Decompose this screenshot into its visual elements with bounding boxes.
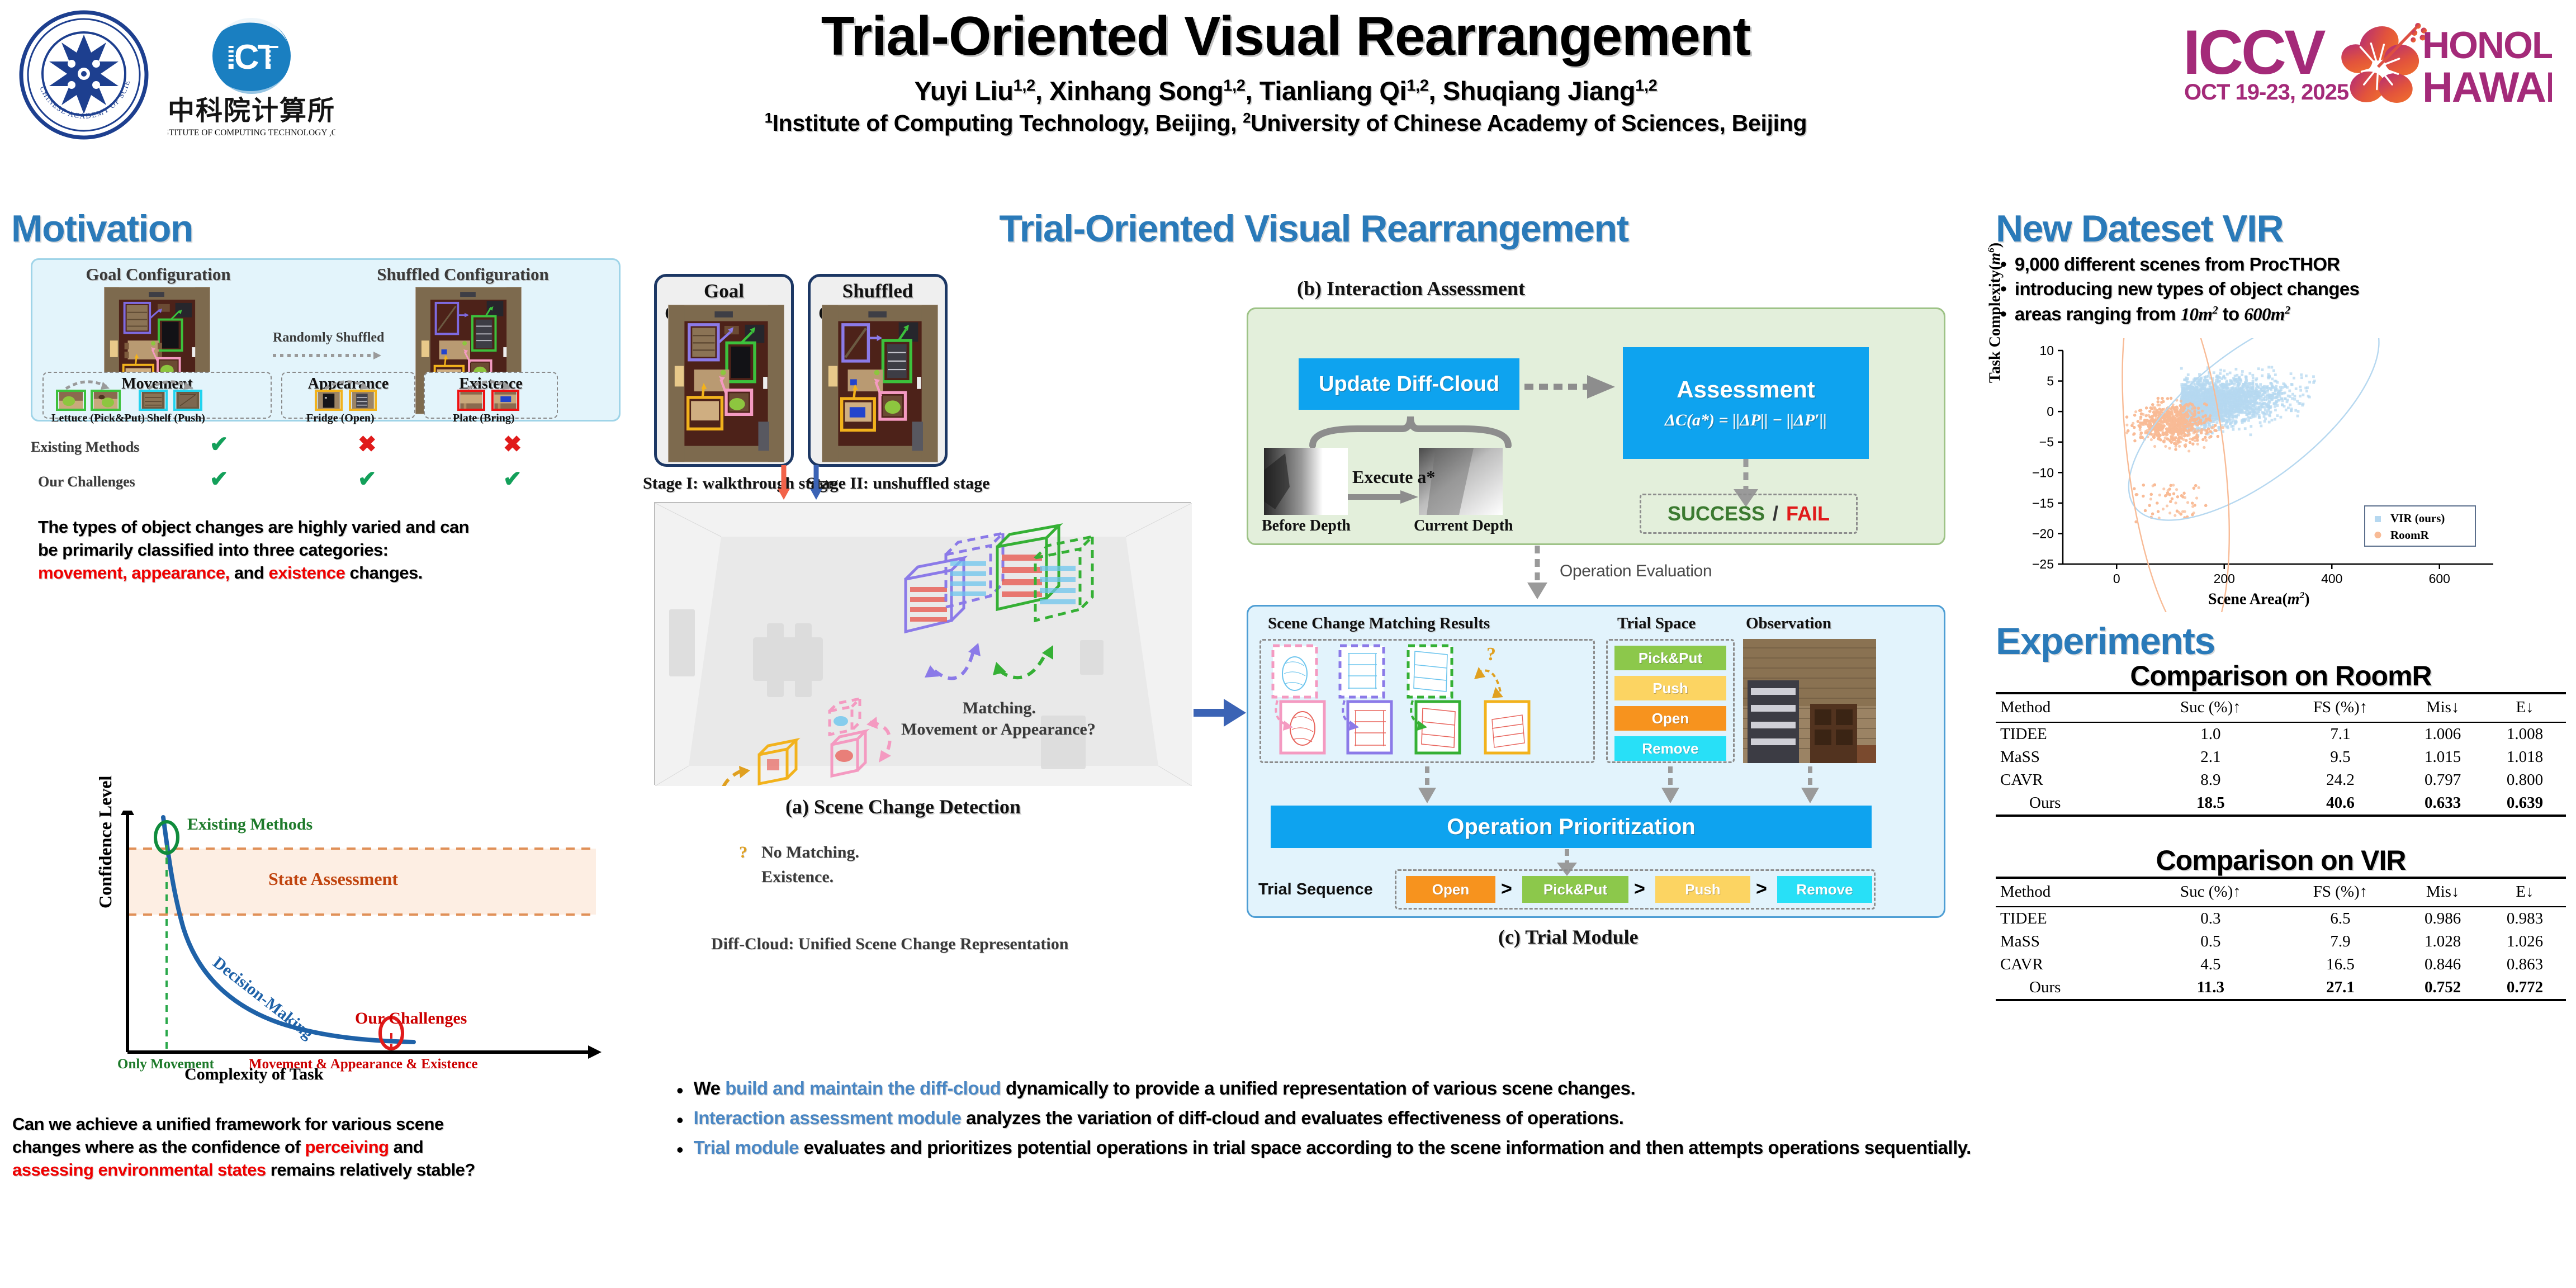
paragraph-highlight: existence <box>269 563 345 583</box>
scatter-point <box>2236 374 2238 377</box>
scatter-point <box>2225 399 2228 401</box>
results-column: New Dateset VIR • 9,000 different scenes… <box>1990 207 2576 1288</box>
scatter-point <box>2264 418 2267 420</box>
scatter-point <box>2261 405 2264 408</box>
scatter-point <box>2198 381 2200 384</box>
scatter-point <box>2267 407 2270 410</box>
scatter-point <box>2186 501 2189 504</box>
scatter-point <box>2238 428 2241 430</box>
ict-logo-subtext: INSTITUTE OF COMPUTING TECHNOLOGY ,CAS <box>168 128 335 138</box>
scatter-point <box>2252 389 2255 391</box>
scatter-point <box>2258 409 2261 411</box>
scatter-point <box>2228 410 2231 413</box>
scatter-point <box>2290 372 2293 375</box>
scatter-point <box>2190 392 2193 395</box>
check-icon: ✔ <box>503 468 522 490</box>
scatter-point <box>2239 379 2242 382</box>
scatter-point <box>2235 414 2238 417</box>
motivation-paragraph: The types of object changes are highly v… <box>38 515 631 585</box>
scatter-point <box>2289 404 2291 406</box>
motivation-question: Can we achieve a unified framework for v… <box>12 1112 638 1182</box>
title-block: Trial-Oriented Visual Rearrangement Yuyi… <box>615 4 1957 136</box>
annotation-state-assessment: State Assessment <box>268 869 398 889</box>
scatter-point <box>2172 484 2175 486</box>
scatter-point <box>2268 399 2271 402</box>
scatter-point <box>2194 439 2196 442</box>
chart-ylabel: Confidence Level <box>95 776 116 908</box>
scatter-point <box>2271 377 2274 380</box>
scatter-point <box>2144 414 2147 417</box>
scatter-point <box>2266 390 2269 393</box>
diffcloud-footer: Diff-Cloud: Unified Scene Change Represe… <box>711 935 1068 954</box>
scatter-point <box>2183 510 2186 513</box>
scatter-point <box>2192 396 2195 399</box>
dataset-bullet-text: 9,000 different scenes from ProcTHOR <box>2015 253 2340 276</box>
scatter-point <box>2228 400 2231 403</box>
scatter-point <box>2199 385 2202 387</box>
iccv-state: HAWAII <box>2422 64 2552 111</box>
diffcloud-nomatch-line2: Existence. <box>761 868 834 887</box>
bullet-text: We build and maintain the diff-cloud dyn… <box>694 1076 1636 1101</box>
trial-space-item: Open <box>1614 706 1726 731</box>
scatter-point <box>2203 446 2205 449</box>
scatter-point <box>2222 383 2225 386</box>
shuffled-config-label: Shuffled Configuration <box>351 264 575 285</box>
scatter-point <box>2264 409 2267 411</box>
scatter-point <box>2254 392 2257 395</box>
operation-prioritization-box: Operation Prioritization <box>1271 806 1872 848</box>
scatter-point <box>2264 420 2266 423</box>
arrow-curve-icon <box>323 378 373 391</box>
scatter-point <box>2286 386 2289 389</box>
scatter-point <box>2222 388 2225 391</box>
scatter-point <box>2250 433 2252 436</box>
paragraph-highlight: perceiving <box>305 1137 389 1157</box>
scatter-point <box>2225 381 2228 384</box>
caption-a: (a) Scene Change Detection <box>785 795 1021 818</box>
scatter-point <box>2185 377 2187 380</box>
change-caption: Shelf (Push) <box>147 412 205 425</box>
bullet-dot-icon: • <box>676 1140 684 1160</box>
scatter-point <box>2190 389 2193 392</box>
bullet-dot-icon: • <box>676 1110 684 1130</box>
scatter-point <box>2295 387 2298 390</box>
list-item: • introducing new types of object change… <box>1995 277 2576 300</box>
scatter-point <box>2308 381 2311 383</box>
scatter-point <box>2214 418 2217 421</box>
paragraph-highlight: assessing environmental states <box>12 1160 266 1180</box>
page-title: Trial-Oriented Visual Rearrangement <box>615 4 1957 68</box>
result-success-label: SUCCESS <box>1668 502 1765 525</box>
scatter-point <box>2185 396 2188 399</box>
scatter-point <box>2208 405 2211 408</box>
scatter-point <box>2263 415 2266 418</box>
panel-b-title: (b) Interaction Assessment <box>1297 277 1525 300</box>
scatter-point <box>2293 398 2296 401</box>
scatter-point <box>2237 389 2240 391</box>
paragraph-line: remains relatively stable? <box>266 1160 475 1180</box>
scatter-point <box>2274 405 2276 408</box>
scatter-point <box>2215 375 2218 378</box>
thumb-lettuce-after <box>91 390 121 411</box>
scatter-point <box>2297 410 2300 413</box>
scatter-point <box>2241 373 2243 376</box>
goal-configuration-card: Goal Configuration <box>654 274 794 467</box>
scatter-point <box>2299 395 2302 397</box>
scatter-point <box>2187 373 2190 376</box>
scatter-point <box>2248 382 2251 385</box>
scatter-point <box>2239 404 2242 407</box>
scatter-point <box>2274 418 2276 421</box>
scatter-point <box>2243 391 2246 394</box>
execute-arrow-icon <box>1348 489 1420 505</box>
observation-label: Observation <box>1746 614 1831 633</box>
before-depth-label: Before Depth <box>1262 517 1351 535</box>
area-max: 600m <box>2244 305 2285 325</box>
list-item: • Trial module evaluates and prioritizes… <box>676 1135 1985 1161</box>
scatter-point <box>2266 386 2269 389</box>
dataset-bullet-list: • 9,000 different scenes from ProcTHOR •… <box>1995 253 2576 328</box>
scatter-point <box>2260 425 2262 428</box>
cas-logo: CHINESE ACADEMY OF SCIENCES <box>17 8 151 142</box>
scatter-point <box>2158 404 2161 406</box>
scatter-point <box>2264 406 2266 409</box>
bullet-post: dynamically to provide a unified represe… <box>1001 1078 1635 1098</box>
scatter-point <box>2153 445 2156 448</box>
scatter-point <box>2222 417 2224 420</box>
paragraph-line: The types of object changes are highly v… <box>38 517 469 537</box>
sequence-separator: > <box>1756 878 1767 900</box>
scatter-point <box>2204 400 2206 402</box>
trial-space-label: Trial Space <box>1617 614 1696 633</box>
matching-results-thumbnails: ? <box>1264 641 1591 761</box>
bullet-highlight: Trial module <box>694 1137 799 1158</box>
operation-prioritization-label: Operation Prioritization <box>1447 815 1695 840</box>
scatter-point <box>2168 447 2171 449</box>
scatter-point <box>2219 407 2222 410</box>
prioritization-input-arrows <box>1259 766 1880 808</box>
scatter-point <box>2195 496 2198 499</box>
list-item: • areas ranging from 10m2 to 600m2 <box>1995 302 2576 326</box>
scatter-point <box>2200 377 2203 380</box>
scatter-point <box>2267 366 2270 368</box>
affiliation-list: 1Institute of Computing Technology, Beij… <box>615 110 1957 136</box>
scatter-point <box>2313 380 2316 382</box>
scatter-point <box>2276 381 2279 384</box>
scatter-point <box>2225 385 2228 387</box>
trial-space-item: Pick&Put <box>1614 646 1726 670</box>
iccv-city: HONOLULU <box>2422 24 2552 67</box>
annotation-existing-methods: Existing Methods <box>187 815 312 834</box>
scatter-point <box>2261 368 2264 371</box>
cross-icon: ✖ <box>503 433 522 456</box>
paragraph-highlight: movement, appearance, <box>38 563 230 583</box>
scatter-point <box>2300 376 2303 379</box>
scatter-point <box>2261 375 2264 377</box>
scatter-point <box>2202 406 2205 409</box>
arrow-curve-icon <box>466 378 516 391</box>
paragraph-line: be primarily classified into three categ… <box>38 540 389 560</box>
scatter-point <box>2199 398 2201 401</box>
method-bullet-list: • We build and maintain the diff-cloud d… <box>676 1076 1985 1165</box>
check-icon: ✔ <box>210 433 229 456</box>
scatter-point <box>2204 411 2207 414</box>
scatter-point <box>2302 394 2305 396</box>
scatter-point <box>2264 392 2266 395</box>
trial-sequence-item: Open <box>1406 876 1495 903</box>
scatter-point <box>2219 369 2222 372</box>
result-fail-label: FAIL <box>1786 502 1830 525</box>
scatter-point <box>2252 377 2255 380</box>
scene-change-matching-label: Scene Change Matching Results <box>1268 614 1490 633</box>
scatter-point <box>2236 406 2238 409</box>
scatter-point <box>2189 398 2191 401</box>
scatter-point <box>2236 395 2239 397</box>
scatter-point <box>2200 402 2203 405</box>
observation-image <box>1743 639 1876 763</box>
scatter-point <box>2221 400 2224 402</box>
scatter-point <box>2244 394 2247 396</box>
method-heading-text: Trial-Oriented Visual Rearrangement <box>999 207 1628 250</box>
bullet-highlight: build and maintain the diff-cloud <box>725 1078 1001 1098</box>
trial-space-item: Remove <box>1614 736 1726 761</box>
scatter-point <box>2259 422 2262 424</box>
scatter-point <box>2185 392 2188 395</box>
scatter-point <box>2279 386 2282 389</box>
scatter-point <box>2168 512 2171 514</box>
scatter-point <box>2289 395 2291 398</box>
scatter-point <box>2224 406 2227 409</box>
scatter-point <box>2216 421 2219 424</box>
bullet-text: Trial module evaluates and prioritizes p… <box>694 1135 1971 1161</box>
scatter-point <box>2203 387 2206 390</box>
scatter-point <box>2180 367 2183 370</box>
scatter-point <box>2296 415 2299 418</box>
scatter-point <box>2312 375 2315 378</box>
scatter-point <box>2251 391 2253 394</box>
scatter-point <box>2232 394 2235 396</box>
assessment-formula: ΔC(a*) = ||ΔP|| − ||ΔP′|| <box>1665 411 1827 430</box>
dataset-bullet-text: introducing new types of object changes <box>2015 277 2360 300</box>
method-column: Trial-Oriented Visual Rearrangement Goal… <box>643 207 1985 1288</box>
scatter-point <box>2300 373 2303 376</box>
assessment-box: Assessment ΔC(a*) = ||ΔP|| − ||ΔP′|| <box>1623 347 1869 459</box>
iccv-dates: OCT 19-23, 2025 <box>2184 80 2349 105</box>
scatter-point <box>2178 445 2181 448</box>
scatter-point <box>2231 397 2233 400</box>
thumb-fridge-closed <box>315 390 343 411</box>
scatter-point <box>2235 368 2238 371</box>
scatter-point <box>2223 370 2225 372</box>
scatter-point <box>2235 378 2238 381</box>
scatter-point <box>2274 409 2277 411</box>
scatter-point <box>2202 393 2205 396</box>
scatter-point <box>2182 394 2185 397</box>
scatter-point <box>2231 388 2234 391</box>
scatter-point <box>2222 376 2225 378</box>
paragraph-line: Can we achieve a unified framework for v… <box>12 1114 444 1134</box>
section-heading-method: Trial-Oriented Visual Rearrangement <box>643 207 1985 250</box>
area-max-exp: 2 <box>2285 304 2290 316</box>
shuffled-scene-image <box>822 305 938 462</box>
scatter-point <box>2125 424 2128 427</box>
scatter-point <box>2231 405 2234 408</box>
scatter-point <box>2241 395 2243 398</box>
scatter-point <box>2195 388 2198 391</box>
scatter-point <box>2164 445 2167 448</box>
arrow-curve-icon <box>64 378 114 391</box>
scatter-point <box>2225 419 2228 422</box>
shuffled-configuration-card: Shuffled Configuration <box>808 274 948 467</box>
scatter-point <box>2227 393 2229 396</box>
area-mid: to <box>2218 304 2244 324</box>
scatter-point <box>2218 402 2221 405</box>
scatter-point <box>2274 373 2277 376</box>
motivation-panel: Goal Configuration Shuffled Configuratio… <box>31 258 621 422</box>
scatter-point <box>2262 412 2265 415</box>
scatter-point <box>2271 419 2274 422</box>
scatter-point <box>2237 383 2240 386</box>
scatter-point <box>2231 380 2233 383</box>
scatter-point <box>2173 514 2176 517</box>
diffcloud-matching-line2: Movement or Appearance? <box>901 720 1096 739</box>
change-caption: Lettuce (Pick&Put) <box>51 412 145 425</box>
scatter-point <box>2175 488 2178 491</box>
scatter-point <box>2255 383 2258 386</box>
scatter-point <box>2256 401 2258 404</box>
scatter-point <box>2276 414 2279 417</box>
scatter-point <box>2241 370 2244 373</box>
scatter-point <box>2198 391 2200 394</box>
scatter-point <box>2204 376 2206 379</box>
thumb-shelf-after <box>173 390 202 411</box>
scatter-point <box>2237 410 2240 413</box>
goal-config-label: Goal Configuration <box>63 264 253 285</box>
scatter-point <box>2240 391 2243 394</box>
paragraph-line: changes where as the confidence of <box>12 1137 305 1157</box>
paragraph-line: changes. <box>345 563 423 583</box>
scatter-point <box>2250 403 2252 406</box>
scatter-point <box>2272 370 2275 372</box>
scatter-point <box>2231 402 2233 405</box>
execute-action-label: Execute a* <box>1352 467 1435 487</box>
dataset-bullet-text: areas ranging from 10m2 to 600m2 <box>2015 302 2290 326</box>
scatter-point <box>2298 402 2300 405</box>
scatter-point <box>2250 400 2253 402</box>
diffcloud-nomatch-line1: No Matching. <box>761 843 859 862</box>
scatter-point <box>2219 372 2222 375</box>
thumb-fridge-open <box>349 390 377 411</box>
diffcloud-question-icon: ? <box>739 843 747 862</box>
scatter-point <box>2213 371 2215 374</box>
before-depth-image <box>1264 448 1348 515</box>
scatter-point <box>2257 367 2260 370</box>
operation-evaluation-label: Operation Evaluation <box>1560 562 1712 581</box>
scatter-point <box>2158 494 2161 496</box>
scatter-point <box>2245 382 2248 385</box>
bullet-highlight: Interaction assessment module <box>694 1107 962 1128</box>
randomly-shuffled-label: Randomly Shuffled <box>273 330 384 345</box>
scatter-point <box>2251 374 2254 377</box>
confidence-complexity-chart: Existing Methods State Assessment Decisi… <box>101 811 626 1090</box>
scatter-point <box>2264 395 2267 398</box>
scatter-point <box>2255 377 2258 380</box>
list-item: • We build and maintain the diff-cloud d… <box>676 1076 1985 1101</box>
scatter-point <box>2269 411 2271 414</box>
assessment-result-box: SUCCESS / FAIL <box>1640 494 1858 534</box>
section-heading-motivation: Motivation <box>11 207 193 250</box>
scatter-point <box>2222 426 2224 429</box>
scatter-point <box>2149 498 2152 500</box>
scatter-point <box>2274 380 2276 382</box>
scatter-point <box>2247 419 2250 422</box>
scatter-point <box>2231 425 2233 428</box>
scatter-point <box>2257 385 2260 388</box>
scatter-point <box>2217 380 2220 382</box>
author-list: Yuyi Liu1,2, Xinhang Song1,2, Tianliang … <box>615 75 1957 106</box>
scatter-point <box>2187 449 2190 452</box>
scatter-point <box>2231 421 2233 424</box>
confidence-chart-svg <box>101 811 626 1090</box>
thumb-plate-present <box>491 390 519 411</box>
scatter-point <box>2299 389 2302 392</box>
scatter-point <box>2274 396 2277 399</box>
area-min: 10m <box>2181 305 2213 325</box>
scatter-point <box>2234 391 2237 394</box>
scatter-point <box>2213 402 2216 405</box>
matrix-row-label: Our Challenges <box>38 473 135 490</box>
scatter-point <box>2280 392 2283 395</box>
scatter-point <box>2232 428 2234 431</box>
scatter-point <box>2228 420 2231 423</box>
scatter-point <box>2227 427 2229 429</box>
scatter-point <box>2220 384 2223 387</box>
shuffle-arrow-icon <box>273 351 385 361</box>
change-caption: Plate (Bring) <box>453 412 515 425</box>
bullet-post: evaluates and prioritizes potential oper… <box>799 1137 1971 1158</box>
scatter-point <box>2251 386 2254 389</box>
sequence-separator: > <box>1634 878 1645 900</box>
iccv-conference-logo: ICCV OCT 19-23, 2025 <box>2183 11 2552 123</box>
scatter-point <box>2234 403 2237 406</box>
thumb-shelf-before <box>139 390 168 411</box>
scatter-point <box>2259 383 2262 386</box>
scatter-point <box>2209 389 2212 392</box>
thumb-plate-absent <box>457 390 485 411</box>
arrow-to-assessment-icon <box>1522 372 1620 402</box>
matrix-row-label: Existing Methods <box>31 439 139 456</box>
scatter-point <box>2294 395 2296 397</box>
paragraph-line: and <box>230 563 269 583</box>
scatter-point <box>2267 404 2270 407</box>
scatter-point <box>2196 443 2199 446</box>
scatter-point <box>2162 508 2165 510</box>
scatter-point <box>2197 486 2200 489</box>
interaction-assessment-panel: Update Diff-Cloud Assessment ΔC(a*) = ||… <box>1247 307 1945 545</box>
scatter-point <box>2254 399 2257 401</box>
motivation-column: Motivation Goal Configuration Shuffled C… <box>0 207 648 1288</box>
scatter-point <box>2207 395 2210 397</box>
scatter-point <box>2252 415 2255 418</box>
change-caption: Fridge (Open) <box>306 412 375 425</box>
scatter-point <box>2246 401 2249 404</box>
diff-cloud-panel: Matching. Movement or Appearance? No Mat… <box>654 502 1191 785</box>
chart-xlabel: Complexity of Task <box>184 1065 323 1084</box>
scatter-point <box>2244 411 2247 414</box>
scatter-point <box>2302 402 2305 405</box>
scatter-point <box>2291 397 2294 400</box>
scatter-point <box>2182 386 2185 389</box>
